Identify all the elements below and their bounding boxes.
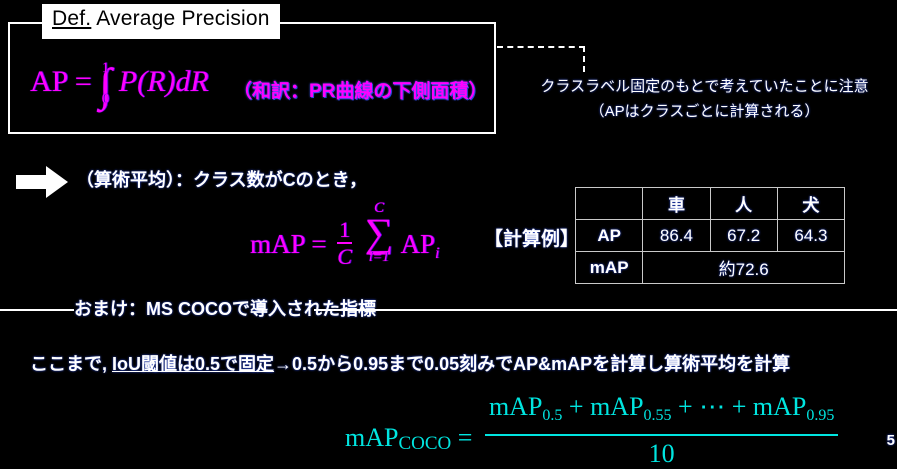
divider-rule-right bbox=[314, 309, 897, 311]
mean-heading: （算術平均）：クラス数がCのとき， bbox=[76, 166, 367, 192]
coco-formula-equals: = bbox=[458, 423, 473, 452]
coco-num-c: mAP bbox=[753, 392, 806, 421]
side-note: クラスラベル固定のもとで考えていたことに注意 （APはクラスごとに計算される） bbox=[512, 74, 897, 124]
example-table: 車 人 犬 AP 86.4 67.2 64.3 mAP 約72.6 bbox=[575, 187, 845, 284]
side-note-line-2: （APはクラスごとに計算される） bbox=[512, 99, 897, 124]
connector-line-horizontal bbox=[497, 46, 585, 48]
example-label: 【計算例】 bbox=[484, 224, 579, 251]
summation-lower: i=1 bbox=[365, 251, 394, 265]
right-arrow-icon bbox=[16, 166, 68, 198]
side-note-line-1: クラスラベル固定のもとで考えていたことに注意 bbox=[512, 74, 897, 99]
map-formula-term-sub: i bbox=[435, 245, 439, 262]
sigma-icon: ∑ bbox=[365, 215, 394, 251]
table-cell-ap-dog: 64.3 bbox=[777, 220, 844, 252]
table-cell-ap-person: 67.2 bbox=[710, 220, 777, 252]
coco-num-b: mAP bbox=[590, 392, 643, 421]
ap-formula-lhs: AP bbox=[30, 65, 67, 98]
coco-description-underlined: IoU閾値は0.5で固定 bbox=[112, 354, 274, 374]
table-header-person: 人 bbox=[710, 188, 777, 220]
coco-formula-lhs-sub: COCO bbox=[398, 433, 451, 454]
coco-plus-2: + bbox=[678, 392, 693, 421]
table-corner-cell bbox=[576, 188, 643, 220]
coco-num-a: mAP bbox=[489, 392, 542, 421]
coco-plus-3: + bbox=[732, 392, 747, 421]
coco-num-b-sub: 0.55 bbox=[644, 407, 672, 424]
integral-upper-limit: 1 bbox=[102, 61, 110, 76]
table-row-label-map: mAP bbox=[576, 252, 643, 284]
coco-fraction-denominator: 10 bbox=[485, 439, 838, 469]
table-row-label-ap: AP bbox=[576, 220, 643, 252]
coco-num-c-sub: 0.95 bbox=[806, 407, 834, 424]
coco-description-lead: ここまで, bbox=[30, 354, 112, 374]
coco-fraction-numerator: mAP0.5 + mAP0.55 + ⋯ + mAP0.95 bbox=[485, 392, 838, 431]
table-header-dog: 犬 bbox=[777, 188, 844, 220]
map-fraction-numerator: 1 bbox=[337, 220, 352, 240]
coco-formula-lhs: mAP bbox=[345, 423, 398, 452]
coco-divider: おまけ：MS COCOで導入された指標 bbox=[0, 297, 897, 321]
table-row-map: mAP 約72.6 bbox=[576, 252, 845, 284]
table-row-header: 車 人 犬 bbox=[576, 188, 845, 220]
ap-translation-note: （和訳：PR曲線の下側面積） bbox=[233, 76, 487, 103]
summation-group: C ∑ i=1 bbox=[365, 202, 394, 265]
definition-label-text: Average Precision bbox=[91, 7, 269, 30]
table-header-car: 車 bbox=[643, 188, 710, 220]
map-formula-equals: = bbox=[311, 229, 326, 259]
coco-fraction-bar bbox=[485, 434, 838, 436]
definition-label: Def. Average Precision bbox=[42, 4, 280, 39]
map-fraction-denominator: C bbox=[337, 246, 352, 268]
integral-lower-limit: 0 bbox=[102, 92, 110, 107]
table-cell-map-value: 約72.6 bbox=[643, 252, 845, 284]
divider-rule-left bbox=[0, 309, 74, 311]
coco-description-rest: →0.5から0.95まで0.05刻みでAP&mAPを計算し算術平均を計算 bbox=[274, 354, 790, 374]
ap-formula: AP = ∫10 P(R)dR bbox=[30, 62, 209, 105]
map-formula-term: AP bbox=[400, 229, 435, 259]
coco-description: ここまで, IoU閾値は0.5で固定→0.5から0.95まで0.05刻みでAP&… bbox=[30, 350, 790, 376]
coco-ellipsis: ⋯ bbox=[699, 392, 725, 421]
coco-num-a-sub: 0.5 bbox=[542, 407, 562, 424]
connector-line-vertical bbox=[583, 46, 585, 72]
map-formula: mAP = 1 C C ∑ i=1 APi bbox=[250, 202, 439, 271]
map-fraction: 1 C bbox=[337, 220, 352, 268]
table-cell-ap-car: 86.4 bbox=[643, 220, 710, 252]
coco-formula: mAPCOCO = mAP0.5 + mAP0.55 + ⋯ + mAP0.95… bbox=[345, 392, 838, 469]
page-number: 5 bbox=[887, 432, 895, 449]
slide-canvas: Def. Average Precision AP = ∫10 P(R)dR （… bbox=[0, 0, 897, 457]
ap-formula-equals: = bbox=[75, 65, 92, 98]
map-formula-lhs: mAP bbox=[250, 229, 305, 259]
definition-label-prefix: Def. bbox=[52, 7, 91, 30]
ap-formula-integrand: P(R)dR bbox=[119, 65, 209, 98]
coco-fraction: mAP0.5 + mAP0.55 + ⋯ + mAP0.95 10 bbox=[485, 392, 838, 469]
coco-plus-1: + bbox=[569, 392, 584, 421]
table-row-ap: AP 86.4 67.2 64.3 bbox=[576, 220, 845, 252]
